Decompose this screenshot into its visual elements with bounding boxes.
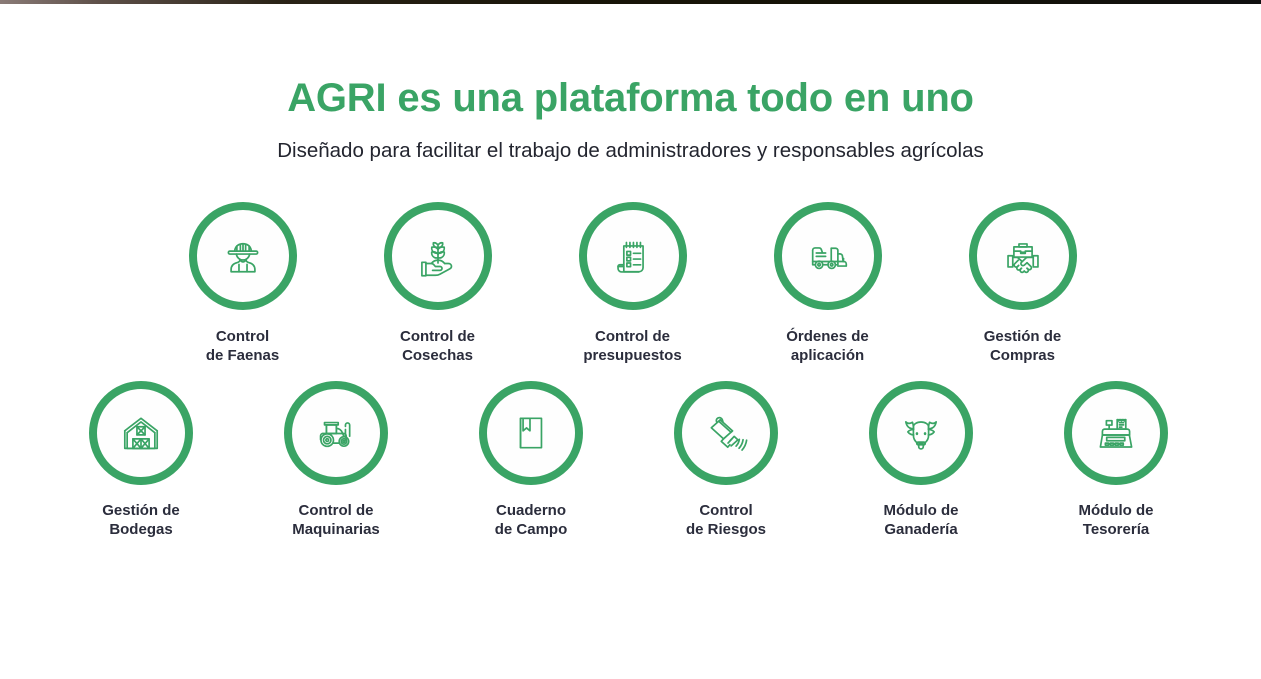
- cash-register-icon: [1064, 381, 1168, 485]
- top-edge-strip: [0, 0, 1261, 4]
- page-subtitle: Diseñado para facilitar el trabajo de ad…: [0, 138, 1261, 164]
- feature-label: Módulo de Tesorería: [1079, 501, 1154, 539]
- features-row-two: Gestión de Bodegas: [0, 381, 1261, 539]
- tractor-icon: [284, 381, 388, 485]
- farmer-icon: [189, 202, 297, 310]
- feature-modulo-de-tesoreria[interactable]: Módulo de Tesorería: [1060, 381, 1172, 539]
- feature-label: Módulo de Ganadería: [884, 501, 959, 539]
- barn-icon: [89, 381, 193, 485]
- watering-can-icon: [674, 381, 778, 485]
- cow-head-icon: [869, 381, 973, 485]
- page-title: AGRI es una plataforma todo en uno: [0, 74, 1261, 122]
- hero-section: AGRI es una plataforma todo en uno Diseñ…: [0, 0, 1261, 164]
- page-root: AGRI es una plataforma todo en uno Diseñ…: [0, 0, 1261, 679]
- feature-cuaderno-de-campo[interactable]: Cuaderno de Campo: [475, 381, 587, 539]
- feature-label: Control de Riesgos: [686, 501, 766, 539]
- feature-control-de-maquinarias[interactable]: Control de Maquinarias: [280, 381, 392, 539]
- feature-control-de-presupuestos[interactable]: Control de presupuestos: [578, 202, 688, 365]
- harvester-icon: [774, 202, 882, 310]
- features-grid: Control de Faenas: [0, 202, 1261, 539]
- notepad-checklist-icon: [579, 202, 687, 310]
- feature-label: Control de Maquinarias: [292, 501, 380, 539]
- feature-label: Gestión de Compras: [984, 327, 1062, 365]
- feature-ordenes-de-aplicacion[interactable]: Órdenes de aplicación: [773, 202, 883, 365]
- feature-label: Control de Cosechas: [400, 327, 475, 365]
- feature-label: Cuaderno de Campo: [495, 501, 568, 539]
- feature-modulo-de-ganaderia[interactable]: Módulo de Ganadería: [865, 381, 977, 539]
- feature-gestion-de-bodegas[interactable]: Gestión de Bodegas: [85, 381, 197, 539]
- book-bookmark-icon: [479, 381, 583, 485]
- feature-control-de-riesgos[interactable]: Control de Riesgos: [670, 381, 782, 539]
- feature-label: Control de presupuestos: [583, 327, 681, 365]
- feature-label: Control de Faenas: [206, 327, 279, 365]
- feature-label: Gestión de Bodegas: [102, 501, 180, 539]
- features-row-one: Control de Faenas: [0, 202, 1261, 365]
- hand-sprout-icon: [384, 202, 492, 310]
- feature-label: Órdenes de aplicación: [786, 327, 869, 365]
- feature-control-de-faenas[interactable]: Control de Faenas: [188, 202, 298, 365]
- feature-gestion-de-compras[interactable]: Gestión de Compras: [968, 202, 1078, 365]
- feature-control-de-cosechas[interactable]: Control de Cosechas: [383, 202, 493, 365]
- handshake-briefcase-icon: [969, 202, 1077, 310]
